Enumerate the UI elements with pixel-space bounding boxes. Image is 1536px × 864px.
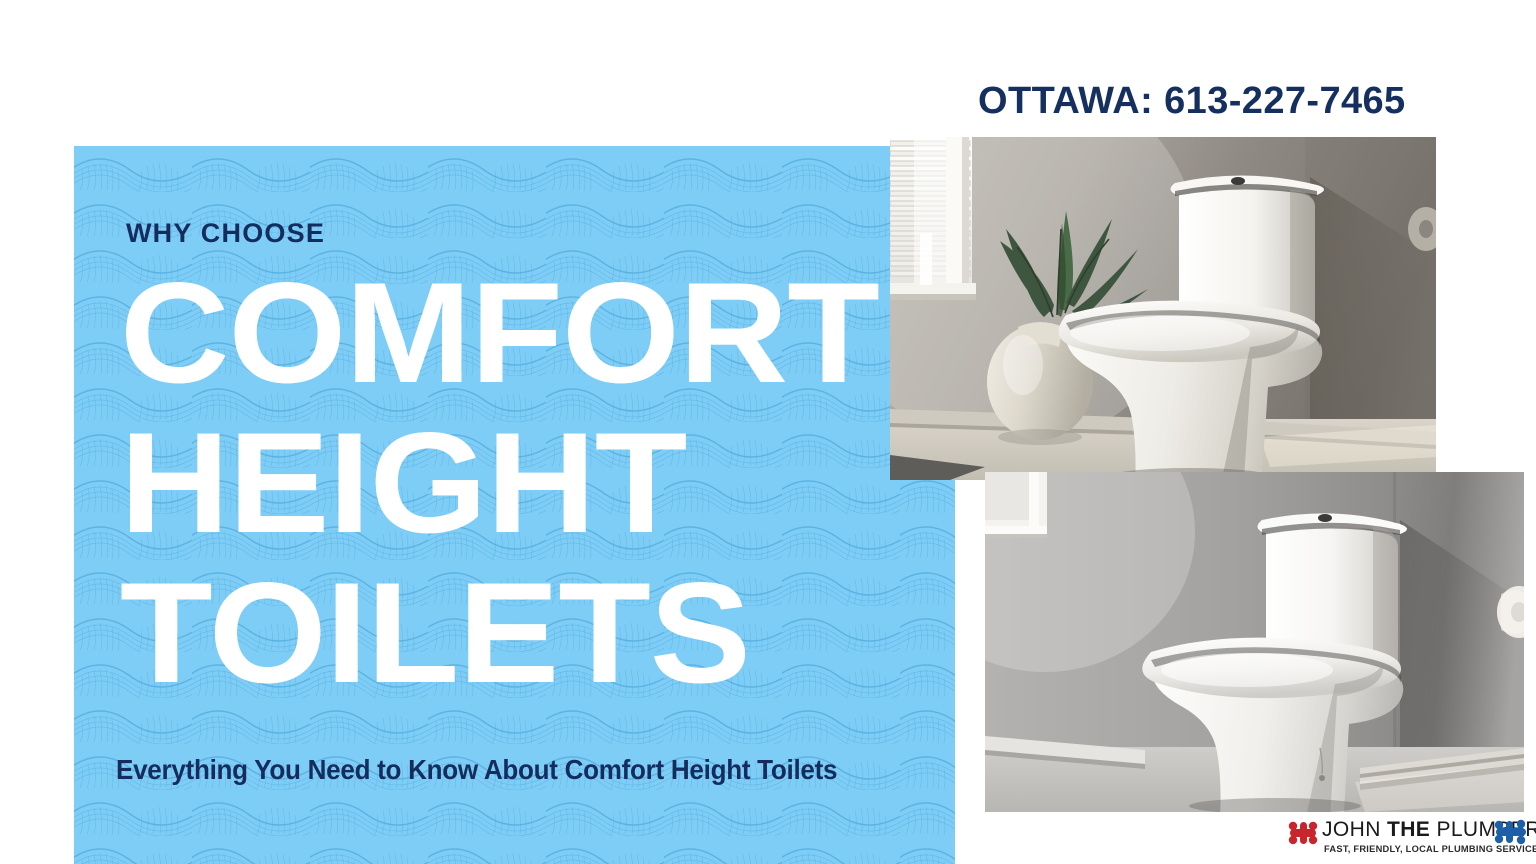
pipe-cross-icon-blue xyxy=(1494,818,1528,846)
headline-line-3: TOILETS xyxy=(120,568,750,700)
logo-word-the: THE xyxy=(1387,818,1430,841)
phone-number: OTTAWA: 613-227-7465 xyxy=(978,80,1406,123)
headline-panel: WHY CHOOSE COMFORT HEIGHT TOILETS Everyt… xyxy=(74,146,955,864)
eyebrow-text: WHY CHOOSE xyxy=(126,218,325,249)
headline-line-1: COMFORT xyxy=(120,268,879,400)
headline-line-2: HEIGHT xyxy=(120,418,686,550)
logo-tagline: FAST, FRIENDLY, LOCAL PLUMBING SERVICES xyxy=(1324,844,1536,854)
company-logo[interactable]: JOHN THE PLUMBER FAST, FRIENDLY, LOCAL P… xyxy=(1288,818,1528,862)
photo-bathroom-toilet-with-plant xyxy=(890,137,1436,480)
logo-word-john: JOHN xyxy=(1322,818,1387,841)
pipe-cross-icon-red xyxy=(1288,820,1318,846)
photo-bathroom-toilet-corner xyxy=(985,472,1524,812)
subtitle-text: Everything You Need to Know About Comfor… xyxy=(116,754,837,786)
poster-canvas: OTTAWA: 613-227-7465 xyxy=(0,0,1536,864)
